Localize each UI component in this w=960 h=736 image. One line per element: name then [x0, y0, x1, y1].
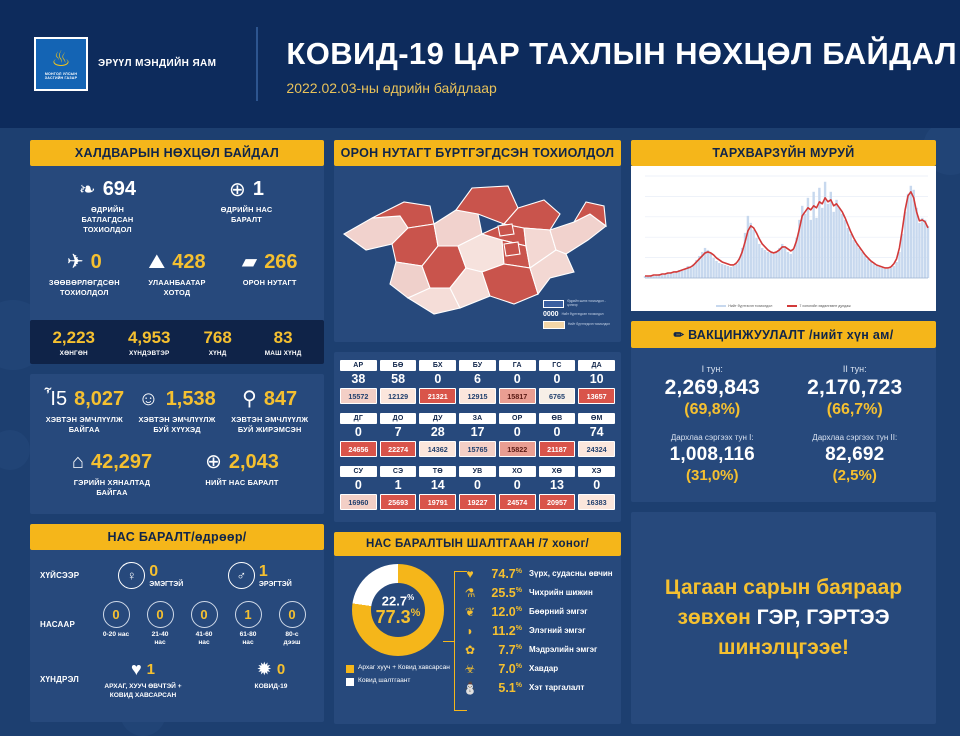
deaths-panel-title: НАС БАРАЛТ/өдрөөр/ [30, 524, 324, 550]
province-cell[interactable]: ЗА1715765 [459, 413, 496, 457]
province-cell[interactable]: ХЭ016383 [578, 466, 615, 510]
map-panel-title: ОРОН НУТАГТ БҮРТГЭГДСЭН ТОХИОЛДОЛ [334, 140, 621, 166]
severity-item: 83МАШ ХҮНД [265, 328, 302, 357]
page-title: КОВИД-19 ЦАР ТАХЛЫН НӨХЦӨЛ БАЙДАЛ [286, 36, 957, 72]
deaths-by-sex-row: ХҮЙСЭЭР ♀0ЭМЭГТЭЙ♂1ЭРЭГТЭЙ [40, 562, 314, 589]
province-today-cases: 1 [380, 477, 417, 494]
hospital-row: Ἶ58,027ХЭВТЭН ЭМЧЛҮҮЛЖБАЙГАА☺1,538ХЭВТЭН… [38, 388, 316, 435]
vaccination-title-text: ВАКЦИНЖУУЛАЛТ /нийт хүн ам/ [688, 328, 893, 342]
vaccine-dose-count: 2,170,723 [784, 376, 927, 400]
bracket-decoration [454, 571, 467, 711]
province-code: ГА [499, 360, 536, 371]
province-cell[interactable]: ГА015817 [499, 360, 536, 404]
public-message: Цагаан сарын баяраар зөвхөн ГЭР, ГЭРТЭЭ … [665, 573, 902, 662]
death-sex-item: ♂1ЭРЭГТЭЙ [228, 562, 292, 589]
province-cell[interactable]: ТӨ1419791 [419, 466, 456, 510]
stat-value: 8,027 [74, 388, 124, 411]
epi-legend: Нийт бүртгэсэн тохиолдол 7 хоногийн хөдө… [631, 304, 936, 308]
province-today-cases: 0 [539, 424, 576, 441]
legend-chip-blue [543, 300, 564, 308]
home-icon: ⌂ [72, 452, 84, 472]
death-person-icon: ⊕ [229, 180, 246, 200]
province-total-cases: 12915 [459, 388, 496, 404]
province-code: ДО [380, 413, 417, 424]
stat-label: ОРОН НУТАГТ [243, 278, 297, 288]
province-total-cases: 21187 [539, 441, 576, 457]
page-header: ♨ МОНГОЛ УЛСЫН ЗАСГИЙН ГАЗАР ЭРҮҮЛ МЭНДИ… [0, 0, 960, 128]
death-age-item: 041-60нас [182, 601, 226, 647]
cause-name: Зүрх, судасны өвчин [522, 569, 613, 578]
province-table-panel: АР3815572БӨ5812129БХ021321БУ612915ГА0158… [334, 352, 621, 522]
death-severity-label: АРХАГ, ХУУЧ ӨВЧТЭЙ +КОВИД ХАВСАРСАН [104, 683, 181, 700]
map-legend: Өдрийн шинэ тохиолдол - цэнхэр 0000 Нийт… [543, 300, 615, 332]
death-age-label: 41-60нас [182, 631, 226, 647]
vaccine-dose-item: Дархлаа сэргээх тун I:1,008,116(31,0%) [641, 433, 784, 484]
severity-value: 768 [203, 328, 231, 348]
province-cell[interactable]: БХ021321 [419, 360, 456, 404]
province-total-cases: 13657 [578, 388, 615, 404]
province-total-cases: 21321 [419, 388, 456, 404]
epi-legend-line: 7 хоногийн хөдөлгөөнт дундаж [787, 304, 850, 308]
stat-label: ГЭРИЙН ХЯНАЛТАДБАЙГАА [74, 478, 151, 498]
heart-pulse-icon: ♥ [131, 659, 142, 680]
province-cell[interactable]: БӨ5812129 [380, 360, 417, 404]
donut-legend-row: Ковид шалтгаант [346, 677, 450, 686]
cause-percent: 7.0% [480, 662, 522, 676]
infection-panel: ХАЛДВАРЫН НӨХЦӨЛ БАЙДАЛ ❧694ӨДРИЙНБАТЛАГ… [30, 140, 324, 364]
vaccine-dose-label: II тун: [784, 364, 927, 374]
stat-item: ☺1,538ХЭВТЭН ЭМЧЛҮҮЛЖБУЙ ХҮҮХЭД [131, 388, 224, 435]
mongolia-map-icon: ▰ [242, 252, 257, 272]
stat-value: 694 [103, 178, 136, 201]
message-line-3: шинэлцгээе! [718, 636, 849, 659]
ministry-name: ЭРҮҮЛ МЭНДИЙН ЯАМ [98, 57, 216, 71]
province-cell[interactable]: ОР015822 [499, 413, 536, 457]
severity-item: 4,953ХҮНДЭВТЭР [128, 328, 171, 357]
province-code: ЗА [459, 413, 496, 424]
death-age-value: 0 [103, 601, 130, 628]
stat-item: ✈0ЗӨӨВӨРЛӨГДСӨНТОХИОЛДОЛ [38, 251, 131, 298]
stat-value: 2,043 [229, 451, 279, 474]
vaccine-dose-label: Дархлаа сэргээх тун II: [784, 433, 927, 442]
epi-curve-chart[interactable]: Нийт бүртгэсэн тохиолдол 7 хоногийн хөдө… [631, 166, 936, 311]
death-age-value: 0 [191, 601, 218, 628]
cause-row: ⛄5.1%Хэт таргалалт [460, 678, 615, 697]
province-total-cases: 19227 [459, 494, 496, 510]
death-age-item: 161-80нас [226, 601, 270, 647]
vaccine-dose-item: Дархлаа сэргээх тун II:82,692(2,5%) [784, 433, 927, 484]
vaccination-panel-title: ✏ ВАКЦИНЖУУЛАЛТ /нийт хүн ам/ [631, 321, 936, 348]
donut-legend-label: Архаг хууч + Ковид хавсарсан [358, 664, 450, 673]
female-icon: ♀ [118, 562, 145, 589]
deaths-age-items: 00-20 нас021-40нас041-60нас161-80нас080-… [94, 601, 314, 647]
epi-panel-title: ТАРХВАРЗҮЙН МУРУЙ [631, 140, 936, 166]
province-cell[interactable]: ӨВ021187 [539, 413, 576, 457]
cause-name: Элэгний эмгэг [522, 626, 586, 635]
stat-value: 1 [253, 178, 264, 201]
page-subtitle: 2022.02.03-ны өдрийн байдлаар [286, 80, 957, 96]
stat-item: ▰266ОРОН НУТАГТ [223, 251, 316, 298]
province-today-cases: 0 [499, 371, 536, 388]
header-divider [256, 27, 258, 101]
map-panel: ОРОН НУТАГТ БҮРТГЭГДСЭН ТОХИОЛДОЛ [334, 140, 621, 342]
home-care-row: ⌂42,297ГЭРИЙН ХЯНАЛТАДБАЙГАА⊕2,043НИЙТ Н… [38, 451, 316, 498]
province-code: ӨВ [539, 413, 576, 424]
death-age-item: 021-40нас [138, 601, 182, 647]
stat-value: 42,297 [91, 451, 152, 474]
province-today-cases: 58 [380, 371, 417, 388]
soyombo-icon: ♨ [51, 48, 71, 70]
province-total-cases: 15822 [499, 441, 536, 457]
province-code: СУ [340, 466, 377, 477]
cause-name: Хавдар [522, 664, 558, 673]
donut-white-value: 22.7% [376, 594, 421, 607]
deaths-by-age-row: НАСААР 00-20 нас021-40нас041-60нас161-80… [40, 601, 314, 647]
hospital-icon: Ἶ5 [45, 389, 68, 409]
cause-row: ⚗25.5%Чихрийн шижин [460, 583, 615, 602]
province-code: АР [340, 360, 377, 371]
province-cell[interactable]: ДГ024656 [340, 413, 377, 457]
causes-panel-title: НАС БАРАЛТЫН ШАЛТГААН /7 хоног/ [334, 532, 621, 556]
death-age-value: 0 [279, 601, 306, 628]
death-age-item: 080-сдээш [270, 601, 314, 647]
vaccine-dose-count: 1,008,116 [641, 444, 784, 466]
pregnant-icon: ⚲ [242, 389, 257, 409]
stat-value: 0 [91, 251, 102, 274]
stat-label: НИЙТ НАС БАРАЛТ [205, 478, 278, 488]
cause-row: ❦12.0%Бөөрний эмгэг [460, 602, 615, 621]
stat-value: 266 [264, 251, 297, 274]
province-today-cases: 0 [419, 371, 456, 388]
death-age-value: 0 [147, 601, 174, 628]
cause-percent: 25.5% [480, 586, 522, 600]
death-severity-item: ♥1АРХАГ, ХУУЧ ӨВЧТЭЙ +КОВИД ХАВСАРСАН [79, 659, 207, 700]
death-severity-value: 1 [147, 661, 155, 678]
death-age-label: 0-20 нас [94, 631, 138, 639]
deaths-sex-items: ♀0ЭМЭГТЭЙ♂1ЭРЭГТЭЙ [96, 562, 314, 589]
logo-caption: МОНГОЛ УЛСЫН ЗАСГИЙН ГАЗАР [36, 72, 86, 81]
legend-text: Нийт бүртгэгдсэн тохиолдол [562, 313, 604, 317]
vaccination-doses: I тун:2,269,843(69,8%)II тун:2,170,723(6… [631, 348, 936, 502]
cause-percent: 74.7% [480, 567, 522, 581]
bracket-stem [443, 641, 454, 642]
province-total-cases: 12129 [380, 388, 417, 404]
death-severity-label: КОВИД-19 [255, 683, 288, 692]
message-line-2b: ГЭР, ГЭРТЭЭ [757, 606, 890, 629]
province-cell[interactable]: ДУ2814362 [419, 413, 456, 457]
death-age-label: 61-80нас [226, 631, 270, 647]
death-severity-item: ✹0КОВИД-19 [207, 659, 335, 692]
province-cell[interactable]: АР3815572 [340, 360, 377, 404]
province-total-cases: 6765 [539, 388, 576, 404]
mongolia-map[interactable]: Өдрийн шинэ тохиолдол - цэнхэр 0000 Нийт… [334, 166, 621, 342]
province-cell[interactable]: СУ016960 [340, 466, 377, 510]
province-total-cases: 22274 [380, 441, 417, 457]
province-cell[interactable]: ӨМ7424324 [578, 413, 615, 457]
legend-number-sample: 0000 [543, 311, 559, 318]
province-today-cases: 10 [578, 371, 615, 388]
province-cell[interactable]: ДА1013657 [578, 360, 615, 404]
province-total-cases: 24324 [578, 441, 615, 457]
vaccination-row-primary: I тун:2,269,843(69,8%)II тун:2,170,723(6… [641, 364, 926, 419]
severity-label: ХҮНД [203, 350, 231, 357]
province-cell[interactable]: БУ612915 [459, 360, 496, 404]
province-code: ГС [539, 360, 576, 371]
map-legend-row: 0000 Нийт бүртгэгдсэн тохиолдол [543, 311, 615, 318]
cause-percent: 11.2% [480, 624, 522, 638]
deaths-severity-tag: ХҮНДРЭЛ [40, 675, 79, 684]
severity-value: 4,953 [128, 328, 171, 348]
severity-label: МАШ ХҮНД [265, 350, 302, 357]
death-sex-item: ♀0ЭМЭГТЭЙ [118, 562, 183, 589]
baby-icon: ☺ [138, 389, 158, 409]
message-line-1: Цагаан сарын баяраар [665, 576, 902, 599]
province-row: АР3815572БӨ5812129БХ021321БУ612915ГА0158… [340, 360, 615, 404]
column-left: ХАЛДВАРЫН НӨХЦӨЛ БАЙДАЛ ❧694ӨДРИЙНБАТЛАГ… [30, 140, 324, 724]
province-total-cases: 15765 [459, 441, 496, 457]
epi-curve-panel: ТАРХВАРЗҮЙН МУРУЙ Нийт бүртгэсэн тохиолд… [631, 140, 936, 311]
death-sex-label: ЭРЭГТЭЙ [259, 581, 292, 588]
province-cell[interactable]: ДО722274 [380, 413, 417, 457]
province-total-cases: 16960 [340, 494, 377, 510]
death-age-label: 80-сдээш [270, 631, 314, 647]
province-today-cases: 17 [459, 424, 496, 441]
province-code: БУ [459, 360, 496, 371]
ulaanbaatar-icon: ⛰ [148, 252, 165, 272]
vaccine-dose-percent: (31,0%) [641, 467, 784, 484]
province-code: ӨМ [578, 413, 615, 424]
province-code: ХЭ [578, 466, 615, 477]
stat-value: 428 [172, 251, 205, 274]
virus-icon: ✹ [257, 659, 272, 680]
province-code: СЭ [380, 466, 417, 477]
death-sex-value: 0 [149, 563, 183, 581]
province-code: ДГ [340, 413, 377, 424]
causes-panel: НАС БАРАЛТЫН ШАЛТГААН /7 хоног/ 22.7% 77… [334, 532, 621, 724]
province-today-cases: 28 [419, 424, 456, 441]
province-today-cases: 0 [340, 477, 377, 494]
deaths-by-severity-row: ХҮНДРЭЛ ♥1АРХАГ, ХУУЧ ӨВЧТЭЙ +КОВИД ХАВС… [40, 659, 314, 700]
vaccine-dose-count: 82,692 [784, 444, 927, 466]
epi-legend-area: Нийт бүртгэсэн тохиолдол [716, 304, 772, 308]
vaccine-dose-count: 2,269,843 [641, 376, 784, 400]
severity-strip: 2,223ХӨНГӨН4,953ХҮНДЭВТЭР768ХҮНД83МАШ ХҮ… [30, 320, 324, 364]
vaccine-dose-item: II тун:2,170,723(66,7%) [784, 364, 927, 419]
dashboard-grid: ХАЛДВАРЫН НӨХЦӨЛ БАЙДАЛ ❧694ӨДРИЙНБАТЛАГ… [0, 128, 960, 734]
cause-name: Бөөрний эмгэг [522, 607, 588, 616]
province-cell[interactable]: УВ019227 [459, 466, 496, 510]
male-icon: ♂ [228, 562, 255, 589]
death-severity-value: 0 [277, 661, 285, 678]
province-cell[interactable]: ХО024574 [499, 466, 536, 510]
province-table: АР3815572БӨ5812129БХ021321БУ612915ГА0158… [334, 352, 621, 522]
vaccine-dose-label: I тун: [641, 364, 784, 374]
province-today-cases: 38 [340, 371, 377, 388]
province-code: ХӨ [539, 466, 576, 477]
legend-text: Өдрийн шинэ тохиолдол - цэнхэр [567, 300, 615, 308]
donut-legend-swatch [346, 665, 354, 673]
stat-label: ХЭВТЭН ЭМЧЛҮҮЛЖБУЙ ЖИРЭМСЭН [231, 415, 308, 435]
infection-row-daily: ❧694ӨДРИЙНБАТЛАГДСАНТОХИОЛДОЛ⊕1ӨДРИЙН НА… [38, 178, 316, 235]
deaths-panel: НАС БАРАЛТ/өдрөөр/ ХҮЙСЭЭР ♀0ЭМЭГТЭЙ♂1ЭР… [30, 524, 324, 723]
vaccine-dose-percent: (66,7%) [784, 401, 927, 419]
province-today-cases: 13 [539, 477, 576, 494]
severity-label: ХӨНГӨН [52, 350, 95, 357]
causes-donut-chart: 22.7% 77.3% [352, 564, 444, 656]
stat-value: 847 [264, 388, 297, 411]
legend-text: Нийт бүртгэгдсэн тохиолдол [568, 323, 610, 327]
stat-label: ЗӨӨВӨРЛӨГДСӨНТОХИОЛДОЛ [49, 278, 120, 298]
vaccine-dose-label: Дархлаа сэргээх тун I: [641, 433, 784, 442]
cause-name: Хэт таргалалт [522, 683, 584, 692]
column-right: ТАРХВАРЗҮЙН МУРУЙ Нийт бүртгэсэн тохиолд… [631, 140, 936, 724]
severity-value: 83 [265, 328, 302, 348]
province-row: ДГ024656ДО722274ДУ2814362ЗА1715765ОР0158… [340, 413, 615, 457]
epi-curve-svg [631, 166, 936, 294]
donut-yellow-value: 77.3% [376, 608, 421, 626]
stat-item: ⌂42,297ГЭРИЙН ХЯНАЛТАДБАЙГАА [47, 451, 177, 498]
airplane-icon: ✈ [67, 252, 84, 272]
province-today-cases: 0 [459, 477, 496, 494]
province-code: ТӨ [419, 466, 456, 477]
province-total-cases: 15817 [499, 388, 536, 404]
stat-label: ХЭВТЭН ЭМЧЛҮҮЛЖБАЙГАА [46, 415, 123, 435]
stat-item: ⚲847ХЭВТЭН ЭМЧЛҮҮЛЖБУЙ ЖИРЭМСЭН [223, 388, 316, 435]
severity-value: 2,223 [52, 328, 95, 348]
hospitalization-panel: Ἶ58,027ХЭВТЭН ЭМЧЛҮҮЛЖБАЙГАА☺1,538ХЭВТЭН… [30, 374, 324, 514]
province-code: УВ [459, 466, 496, 477]
province-total-cases: 25693 [380, 494, 417, 510]
province-today-cases: 6 [459, 371, 496, 388]
province-code: ДУ [419, 413, 456, 424]
cause-name: Чихрийн шижин [522, 588, 593, 597]
cause-name: Мэдрэлийн эмгэг [522, 645, 597, 654]
province-today-cases: 0 [578, 477, 615, 494]
province-total-cases: 20957 [539, 494, 576, 510]
severity-item: 2,223ХӨНГӨН [52, 328, 95, 357]
province-code: ОР [499, 413, 536, 424]
total-death-icon: ⊕ [205, 452, 222, 472]
donut-legend: Архаг хууч + Ковид хавсарсанКовид шалтга… [346, 664, 450, 690]
legend-chip-amber [543, 321, 565, 329]
province-cell[interactable]: СЭ125693 [380, 466, 417, 510]
vaccination-row-booster: Дархлаа сэргээх тун I:1,008,116(31,0%)Да… [641, 433, 926, 484]
severity-label: ХҮНДЭВТЭР [128, 350, 171, 357]
province-total-cases: 16383 [578, 494, 615, 510]
cause-row: ◗11.2%Элэгний эмгэг [460, 621, 615, 640]
province-today-cases: 7 [380, 424, 417, 441]
causes-donut-wrap: 22.7% 77.3% Архаг хууч + Ковид хавсарсан… [340, 564, 456, 718]
vaccine-dose-percent: (2,5%) [784, 467, 927, 484]
causes-list: ♥74.7%Зүрх, судасны өвчин⚗25.5%Чихрийн ш… [456, 564, 615, 718]
province-today-cases: 74 [578, 424, 615, 441]
death-sex-label: ЭМЭГТЭЙ [149, 581, 183, 588]
column-middle: ОРОН НУТАГТ БҮРТГЭГДСЭН ТОХИОЛДОЛ [334, 140, 621, 724]
donut-legend-label: Ковид шалтгаант [358, 677, 410, 686]
cause-percent: 5.1% [480, 681, 522, 695]
vaccine-dose-item: I тун:2,269,843(69,8%) [641, 364, 784, 419]
cause-percent: 7.7% [480, 643, 522, 657]
infection-row-origin: ✈0ЗӨӨВӨРЛӨГДСӨНТОХИОЛДОЛ⛰428УЛААНБААТАРХ… [38, 251, 316, 298]
province-total-cases: 15572 [340, 388, 377, 404]
death-age-value: 1 [235, 601, 262, 628]
stat-item: ⊕2,043НИЙТ НАС БАРАЛТ [177, 451, 307, 498]
donut-legend-swatch [346, 678, 354, 686]
infection-panel-title: ХАЛДВАРЫН НӨХЦӨЛ БАЙДАЛ [30, 140, 324, 166]
deaths-age-tag: НАСААР [40, 620, 94, 629]
government-logo: ♨ МОНГОЛ УЛСЫН ЗАСГИЙН ГАЗАР [34, 37, 88, 91]
province-today-cases: 0 [539, 371, 576, 388]
stat-label: УЛААНБААТАРХОТОД [148, 278, 205, 298]
province-today-cases: 14 [419, 477, 456, 494]
stat-item: ⊕1ӨДРИЙН НАСБАРАЛТ [177, 178, 316, 235]
message-line-2a: зөвхөн [677, 606, 756, 629]
province-row: СУ016960СЭ125693ТӨ1419791УВ019227ХО02457… [340, 466, 615, 510]
map-legend-row: Нийт бүртгэгдсэн тохиолдол [543, 321, 615, 329]
province-today-cases: 0 [499, 477, 536, 494]
province-total-cases: 19791 [419, 494, 456, 510]
death-sex-value: 1 [259, 563, 292, 581]
stat-item: ⛰428УЛААНБААТАРХОТОД [131, 251, 224, 298]
vaccine-dose-percent: (69,8%) [641, 401, 784, 419]
stat-label: ХЭВТЭН ЭМЧЛҮҮЛЖБУЙ ХҮҮХЭД [138, 415, 215, 435]
stat-value: 1,538 [166, 388, 216, 411]
deaths-sex-tag: ХҮЙСЭЭР [40, 571, 96, 580]
lungs-icon: ❧ [79, 180, 96, 200]
province-today-cases: 0 [340, 424, 377, 441]
province-code: БХ [419, 360, 456, 371]
province-cell[interactable]: ХӨ1320957 [539, 466, 576, 510]
death-age-item: 00-20 нас [94, 601, 138, 639]
death-age-label: 21-40нас [138, 631, 182, 647]
province-code: ХО [499, 466, 536, 477]
deaths-severity-items: ♥1АРХАГ, ХУУЧ ӨВЧТЭЙ +КОВИД ХАВСАРСАН✹0К… [79, 659, 335, 700]
stat-item: Ἶ58,027ХЭВТЭН ЭМЧЛҮҮЛЖБАЙГАА [38, 388, 131, 435]
cause-row: ✿7.7%Мэдрэлийн эмгэг [460, 640, 615, 659]
public-message-panel: Цагаан сарын баяраар зөвхөн ГЭР, ГЭРТЭЭ … [631, 512, 936, 724]
province-cell[interactable]: ГС06765 [539, 360, 576, 404]
stat-label: ӨДРИЙНБАТЛАГДСАНТОХИОЛДОЛ [82, 205, 134, 235]
province-total-cases: 14362 [419, 441, 456, 457]
donut-legend-row: Архаг хууч + Ковид хавсарсан [346, 664, 450, 673]
stat-label: ӨДРИЙН НАСБАРАЛТ [221, 205, 273, 225]
syringe-icon: ✏ [674, 328, 685, 342]
stat-item: ❧694ӨДРИЙНБАТЛАГДСАНТОХИОЛДОЛ [38, 178, 177, 235]
cause-percent: 12.0% [480, 605, 522, 619]
vaccination-panel: ✏ ВАКЦИНЖУУЛАЛТ /нийт хүн ам/ I тун:2,26… [631, 321, 936, 502]
map-legend-row: Өдрийн шинэ тохиолдол - цэнхэр [543, 300, 615, 308]
province-total-cases: 24656 [340, 441, 377, 457]
severity-item: 768ХҮНД [203, 328, 231, 357]
province-code: ДА [578, 360, 615, 371]
cause-row: ☣7.0%Хавдар [460, 659, 615, 678]
province-today-cases: 0 [499, 424, 536, 441]
province-code: БӨ [380, 360, 417, 371]
province-total-cases: 24574 [499, 494, 536, 510]
cause-row: ♥74.7%Зүрх, судасны өвчин [460, 564, 615, 583]
